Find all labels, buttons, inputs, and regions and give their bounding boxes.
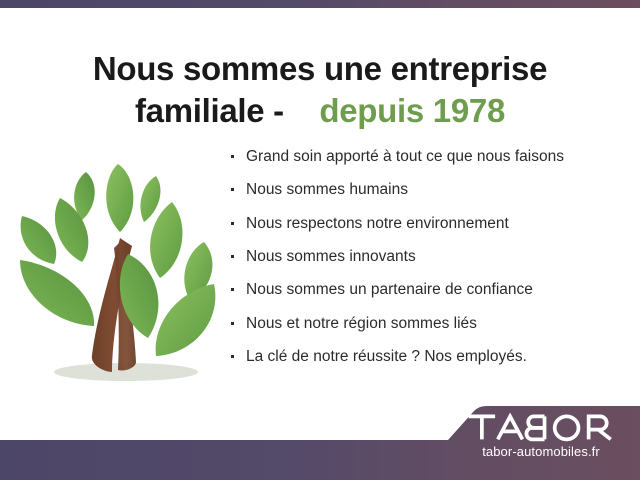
bullet-icon: [231, 222, 234, 225]
list-item-label: Nous sommes innovants: [246, 248, 416, 265]
list-item: Nous sommes innovants: [228, 248, 628, 266]
list-item: Nous respectons notre environnement: [228, 215, 628, 233]
list-item: Nous et notre région sommes liés: [228, 315, 628, 333]
bullet-icon: [231, 255, 234, 258]
leaf-1: [106, 164, 133, 232]
list-item: Grand soin apporté à tout ce que nous fa…: [228, 148, 628, 166]
list-item-label: Nous et notre région sommes liés: [246, 315, 477, 332]
bullet-icon: [231, 155, 234, 158]
page-title: Nous sommes une entreprise familiale - d…: [0, 48, 640, 132]
leaf-5: [150, 202, 182, 278]
headline-line-2-main: familiale -: [135, 92, 284, 129]
headline-accent-year: depuis 1978: [319, 92, 505, 129]
bullet-icon: [231, 288, 234, 291]
leaf-8: [20, 260, 94, 326]
value-points-list: Grand soin apporté à tout ce que nous fa…: [228, 148, 628, 381]
list-item: Nous sommes humains: [228, 181, 628, 199]
top-accent-bar: [0, 0, 640, 8]
slide-canvas: Nous sommes une entreprise familiale - d…: [0, 0, 640, 480]
footer-band: tabor-automobiles.fr: [0, 400, 640, 480]
list-item-label: Grand soin apporté à tout ce que nous fa…: [246, 148, 564, 165]
tree-illustration: [8, 150, 238, 395]
list-item-label: Nous respectons notre environnement: [246, 215, 509, 232]
footer-shape: [0, 406, 640, 480]
list-item: Nous sommes un partenaire de confiance: [228, 281, 628, 299]
list-item-label: Nous sommes humains: [246, 181, 408, 198]
bullet-icon: [231, 355, 234, 358]
bullet-icon: [231, 188, 234, 191]
leaf-3: [140, 176, 160, 222]
leaf-9: [156, 284, 216, 356]
headline-line-2: familiale - depuis 1978: [0, 90, 640, 132]
list-item-label: La clé de notre réussite ? Nos employés.: [246, 348, 527, 365]
leaf-6: [21, 216, 57, 264]
list-item: La clé de notre réussite ? Nos employés.: [228, 348, 628, 366]
bullet-icon: [231, 322, 234, 325]
list-item-label: Nous sommes un partenaire de confiance: [246, 281, 533, 298]
headline-line-1: Nous sommes une entreprise: [0, 48, 640, 90]
